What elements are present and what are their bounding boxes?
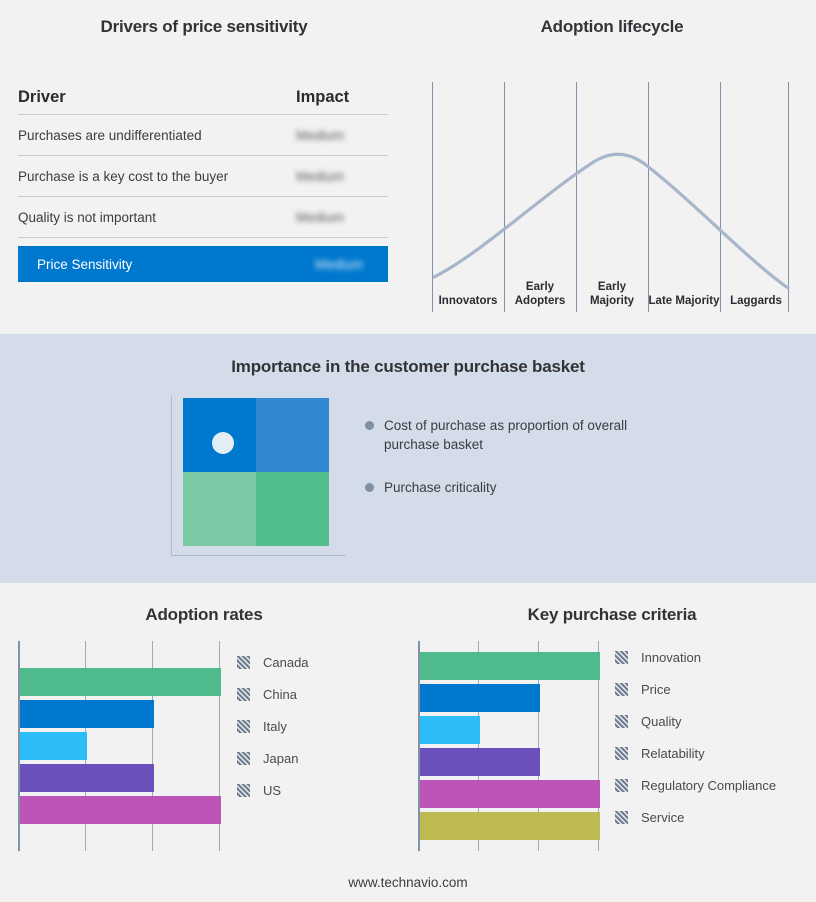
adoption-rates-title: Adoption rates (0, 605, 408, 625)
legend-label: Japan (263, 751, 298, 766)
matrix-quadrant-bottom-right (256, 472, 329, 546)
lifecycle-segment-innovators: Innovators (432, 265, 504, 310)
drivers-title: Drivers of price sensitivity (0, 17, 408, 37)
adoption-rates-panel: Adoption rates CanadaChinaItalyJapanUS (0, 583, 408, 902)
matrix-quadrant-top-right (256, 398, 329, 472)
legend-hatch-icon (615, 683, 628, 696)
lifecycle-panel: Adoption lifecycle Innovators Early Adop… (408, 0, 816, 334)
legend-item: Regulatory Compliance (615, 769, 776, 801)
legend-item: China (237, 678, 309, 710)
table-row: Purchases are undifferentiated Medium (18, 115, 388, 156)
matrix-quadrant-bottom-left (183, 472, 256, 546)
bar-canada (20, 668, 221, 696)
legend-label: Regulatory Compliance (641, 778, 776, 793)
key-purchase-criteria-title: Key purchase criteria (408, 605, 816, 625)
key-purchase-criteria-panel: Key purchase criteria InnovationPriceQua… (408, 583, 816, 902)
bar-us (20, 796, 221, 824)
legend-item: Purchase criticality (365, 478, 665, 497)
legend-hatch-icon (237, 688, 250, 701)
driver-label: Purchase is a key cost to the buyer (18, 169, 296, 184)
bar-japan (20, 764, 154, 792)
legend-item: Quality (615, 705, 776, 737)
legend-item: Canada (237, 646, 309, 678)
lifecycle-segment-laggards: Laggards (720, 265, 792, 310)
legend-item: US (237, 774, 309, 806)
legend-hatch-icon (615, 715, 628, 728)
legend-label: Cost of purchase as proportion of overal… (384, 416, 634, 454)
matrix-x-axis (171, 555, 346, 556)
lifecycle-segment-late-majority: Late Majority (648, 265, 720, 310)
legend-hatch-icon (615, 651, 628, 664)
drivers-panel: Drivers of price sensitivity Driver Impa… (0, 0, 408, 334)
impact-value: Medium (296, 257, 388, 272)
impact-value: Medium (296, 210, 388, 225)
legend-item: Italy (237, 710, 309, 742)
legend-item: Innovation (615, 641, 776, 673)
importance-legend: Cost of purchase as proportion of overal… (365, 416, 665, 521)
legend-label: Purchase criticality (384, 478, 497, 497)
legend-hatch-icon (237, 752, 250, 765)
adoption-bars-group (20, 641, 221, 851)
matrix-y-axis (171, 396, 172, 556)
legend-label: Canada (263, 655, 309, 670)
importance-title: Importance in the customer purchase bask… (0, 357, 816, 377)
bar-innovation (420, 652, 600, 680)
legend-bullet-icon (365, 421, 374, 430)
legend-hatch-icon (615, 747, 628, 760)
top-section: Drivers of price sensitivity Driver Impa… (0, 0, 816, 334)
legend-hatch-icon (237, 720, 250, 733)
legend-hatch-icon (615, 811, 628, 824)
table-row: Quality is not important Medium (18, 197, 388, 238)
impact-value: Medium (296, 169, 388, 184)
legend-item: Service (615, 801, 776, 833)
legend-label: Price (641, 682, 671, 697)
bottom-section: Adoption rates CanadaChinaItalyJapanUS K… (0, 583, 816, 902)
bar-price (420, 684, 540, 712)
bar-regulatory-compliance (420, 780, 600, 808)
legend-item: Japan (237, 742, 309, 774)
matrix-quadrants (183, 398, 329, 546)
legend-label: Innovation (641, 650, 701, 665)
column-header-driver: Driver (18, 88, 296, 107)
legend-item: Cost of purchase as proportion of overal… (365, 416, 665, 454)
bar-china (20, 700, 154, 728)
importance-matrix (171, 396, 349, 564)
legend-label: US (263, 783, 281, 798)
legend-hatch-icon (237, 656, 250, 669)
price-sensitivity-summary-row: Price Sensitivity Medium (18, 246, 388, 282)
bar-relatability (420, 748, 540, 776)
bar-service (420, 812, 600, 840)
legend-label: Relatability (641, 746, 705, 761)
impact-value: Medium (296, 128, 388, 143)
lifecycle-segment-early-majority: Early Majority (576, 265, 648, 310)
importance-section: Importance in the customer purchase bask… (0, 334, 816, 583)
lifecycle-segment-labels: Innovators Early Adopters Early Majority… (432, 265, 792, 310)
legend-label: Italy (263, 719, 287, 734)
drivers-table: Driver Impact Purchases are undifferenti… (18, 88, 388, 282)
footer-url: www.technavio.com (0, 875, 816, 890)
legend-hatch-icon (615, 779, 628, 792)
driver-label: Quality is not important (18, 210, 296, 225)
table-header-row: Driver Impact (18, 88, 388, 115)
legend-hatch-icon (237, 784, 250, 797)
adoption-rates-chart (18, 641, 222, 851)
key-purchase-criteria-legend: InnovationPriceQualityRelatabilityRegula… (615, 641, 776, 833)
key-purchase-criteria-chart (418, 641, 600, 851)
legend-label: Quality (641, 714, 681, 729)
legend-item: Price (615, 673, 776, 705)
criteria-bars-group (420, 641, 600, 851)
lifecycle-segment-early-adopters: Early Adopters (504, 265, 576, 310)
bar-quality (420, 716, 480, 744)
adoption-rates-legend: CanadaChinaItalyJapanUS (237, 646, 309, 806)
bar-italy (20, 732, 87, 760)
driver-label: Purchases are undifferentiated (18, 128, 296, 143)
legend-label: Service (641, 810, 684, 825)
matrix-position-marker (212, 432, 234, 454)
legend-item: Relatability (615, 737, 776, 769)
column-header-impact: Impact (296, 88, 388, 107)
table-row: Purchase is a key cost to the buyer Medi… (18, 156, 388, 197)
driver-label: Price Sensitivity (37, 257, 315, 272)
legend-label: China (263, 687, 297, 702)
legend-bullet-icon (365, 483, 374, 492)
lifecycle-title: Adoption lifecycle (408, 17, 816, 37)
